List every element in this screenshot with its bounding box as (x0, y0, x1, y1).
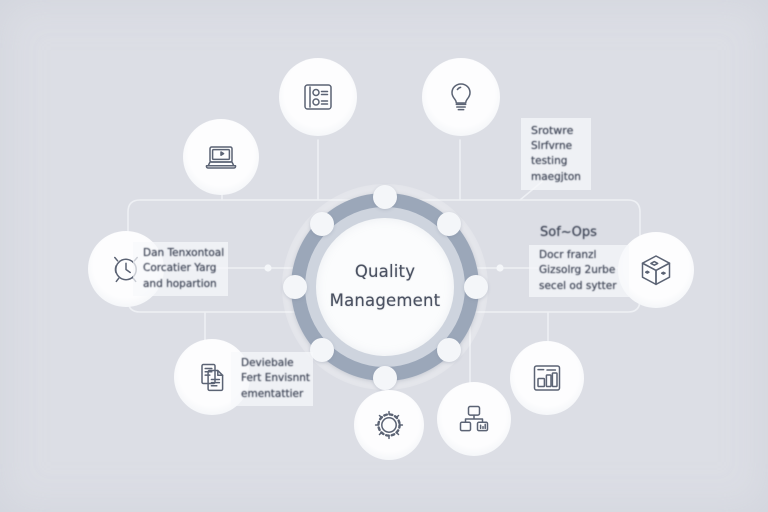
hub-ring-dot-se[interactable] (437, 338, 461, 362)
label-bottom-left-detail: Deviebale Fert Envisnnt ementattier (231, 352, 313, 406)
hub-ring-dot-e[interactable] (464, 275, 488, 299)
line-dot-right (496, 264, 503, 271)
gear-icon (369, 405, 409, 445)
label-software-testing: Srotwre Slrfvrne testing maegjton (521, 118, 591, 190)
label-line: Fert Envisnnt (241, 371, 303, 387)
hub-center: Quality Management (316, 218, 454, 356)
heading-softops: Sof~Ops (540, 225, 597, 240)
hub-title-line-1: Quality (355, 258, 415, 287)
cube-box-icon (633, 247, 679, 293)
lightbulb-icon (440, 76, 482, 118)
node-hierarchy[interactable] (437, 382, 511, 456)
hub-ring-dot-s[interactable] (373, 366, 397, 390)
node-laptop[interactable] (183, 119, 259, 195)
laptop-icon (200, 136, 242, 178)
diagram-canvas: Quality Management (0, 0, 768, 512)
hub-ring-dot-w[interactable] (283, 275, 307, 299)
node-lightbulb[interactable] (422, 58, 500, 136)
label-line: Deviebale (241, 356, 303, 372)
label-line: maegjton (531, 170, 581, 186)
label-line: Docr franzl (539, 248, 619, 264)
node-gear[interactable] (354, 390, 424, 460)
label-line: and hopartion (143, 277, 218, 293)
hub-ring-dot-nw[interactable] (310, 212, 334, 236)
label-line: ementattier (241, 387, 303, 403)
hub-ring-dot-ne[interactable] (437, 212, 461, 236)
hub-ring-dot-n[interactable] (373, 185, 397, 209)
node-cube[interactable] (618, 232, 694, 308)
node-barchart[interactable] (510, 341, 584, 415)
documents-copy-icon (191, 356, 233, 398)
bar-chart-icon (526, 357, 568, 399)
label-left-detail: Dan Tenxontoal Corcatier Yarg and hopart… (133, 242, 228, 296)
label-line: testing (531, 154, 581, 170)
checklist-icon (297, 76, 339, 118)
hierarchy-icon (453, 398, 495, 440)
label-line: Gizsolrg 2urbe (539, 263, 619, 279)
label-line: Dan Tenxontoal (143, 246, 218, 262)
hub-title-line-2: Management (330, 287, 441, 316)
label-line: Srotwre (531, 123, 581, 139)
node-checklist[interactable] (279, 58, 357, 136)
label-line: Slrfvrne (531, 139, 581, 155)
hub-ring-dot-sw[interactable] (310, 338, 334, 362)
line-dot-left (264, 264, 271, 271)
label-line: secel od sytter (539, 279, 619, 295)
label-line: Corcatier Yarg (143, 261, 218, 277)
label-softops-detail: Docr franzl Gizsolrg 2urbe secel od sytt… (529, 245, 629, 297)
